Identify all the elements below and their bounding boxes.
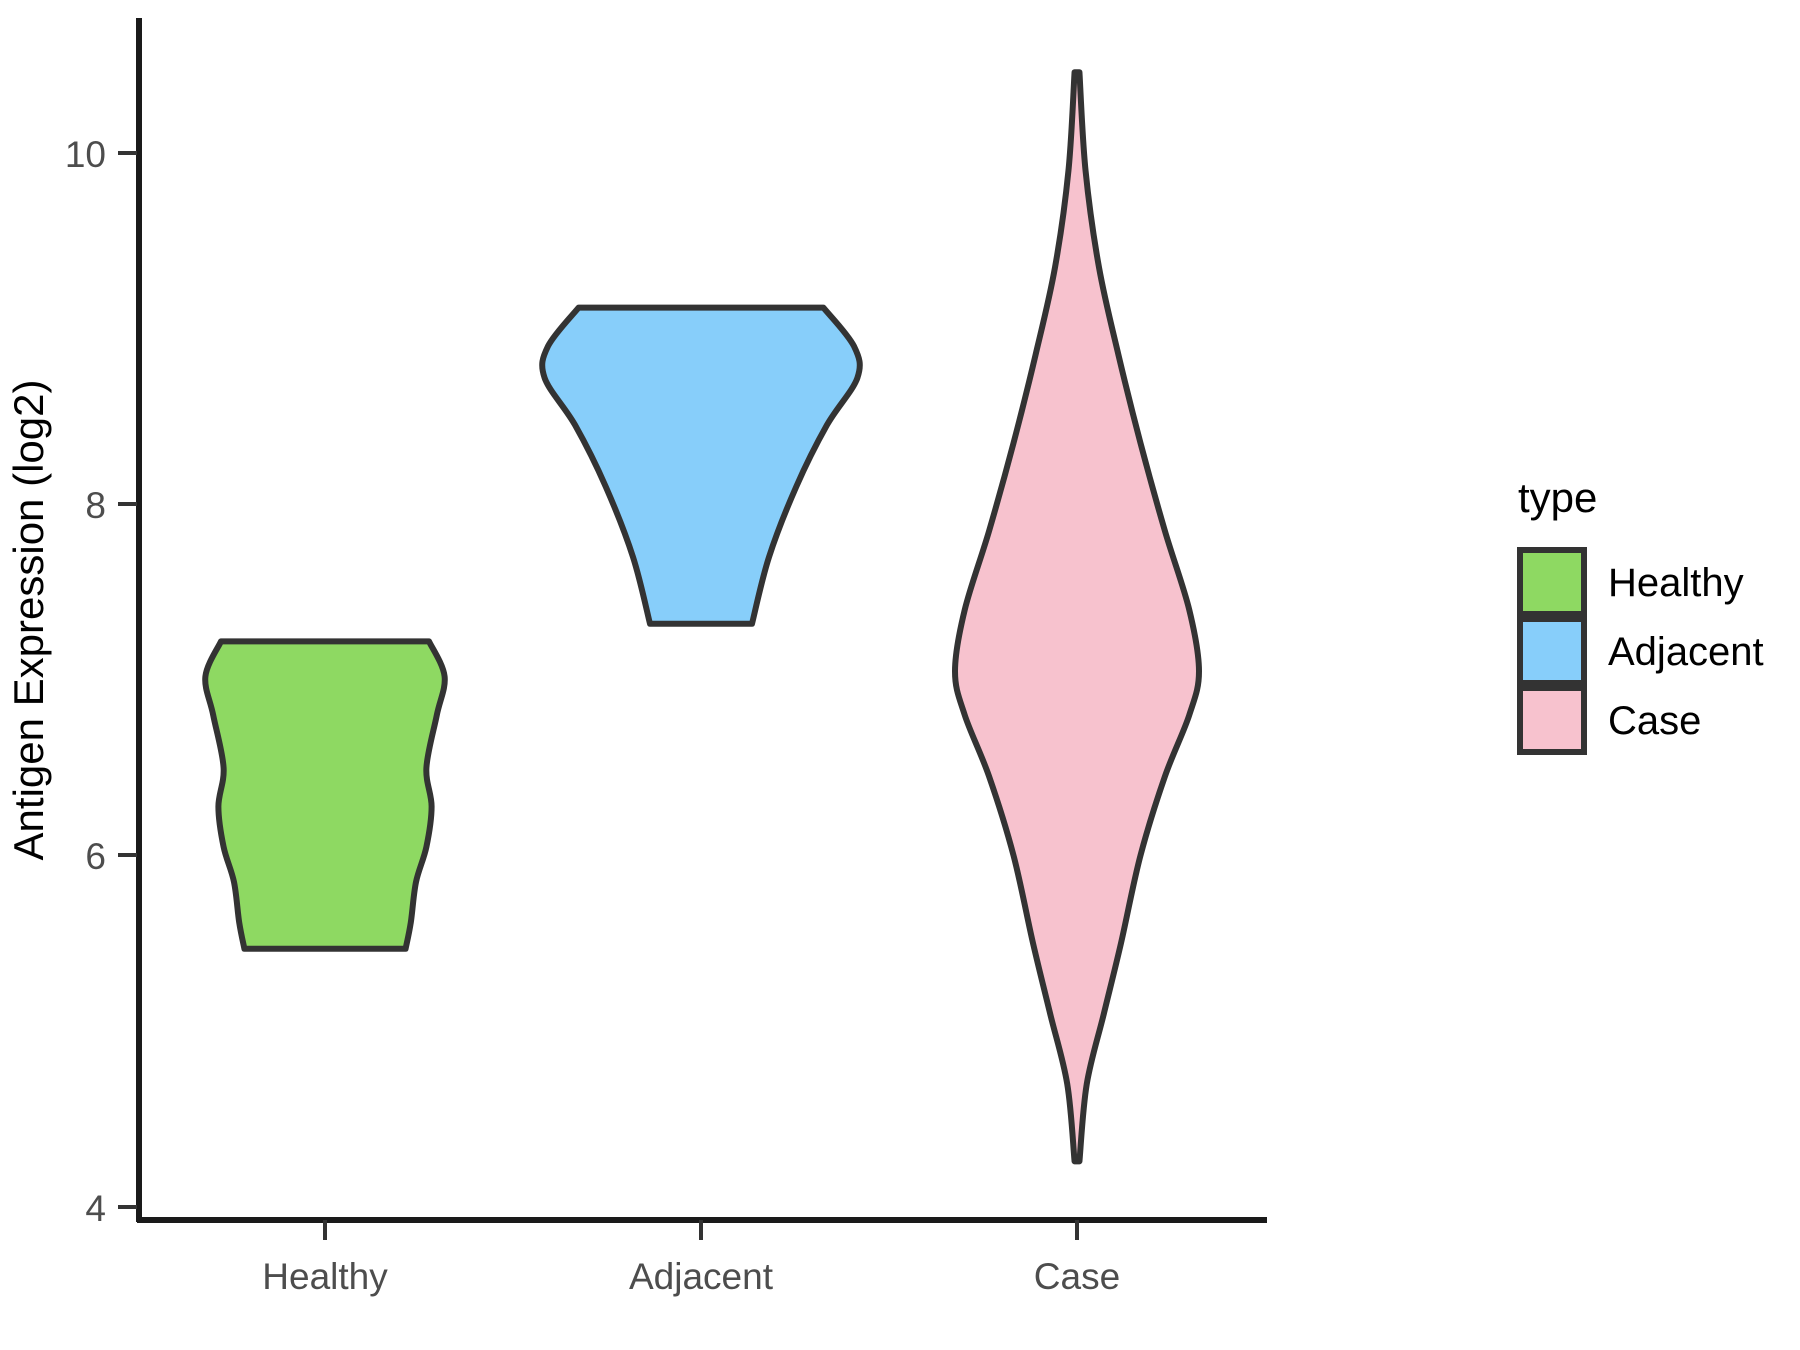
x-tick-label-healthy: Healthy [262, 1256, 388, 1297]
legend-label-case[interactable]: Case [1608, 699, 1701, 743]
legend-label-adjacent[interactable]: Adjacent [1608, 630, 1764, 674]
chart-canvas: 10 8 6 4 Antigen Expression (log2) Healt… [0, 0, 1800, 1350]
y-tick-label-10: 10 [65, 134, 106, 175]
legend-title: type [1518, 474, 1597, 521]
x-tick-label-case: Case [1034, 1256, 1120, 1297]
violin-plot-figure: 10 8 6 4 Antigen Expression (log2) Healt… [0, 0, 1800, 1350]
y-axis-title: Antigen Expression (log2) [5, 380, 52, 861]
y-tick-label-6: 6 [85, 836, 106, 877]
y-tick-label-4: 4 [85, 1188, 106, 1229]
violin-healthy[interactable] [205, 641, 445, 948]
x-tick-label-adjacent: Adjacent [629, 1256, 774, 1297]
legend-swatch-healthy[interactable] [1520, 550, 1584, 614]
legend-swatch-case[interactable] [1520, 688, 1584, 752]
legend-swatch-adjacent[interactable] [1520, 619, 1584, 683]
legend-label-healthy[interactable]: Healthy [1608, 561, 1744, 605]
legend: type Healthy Adjacent Case [1518, 474, 1764, 752]
y-tick-label-8: 8 [85, 485, 106, 526]
